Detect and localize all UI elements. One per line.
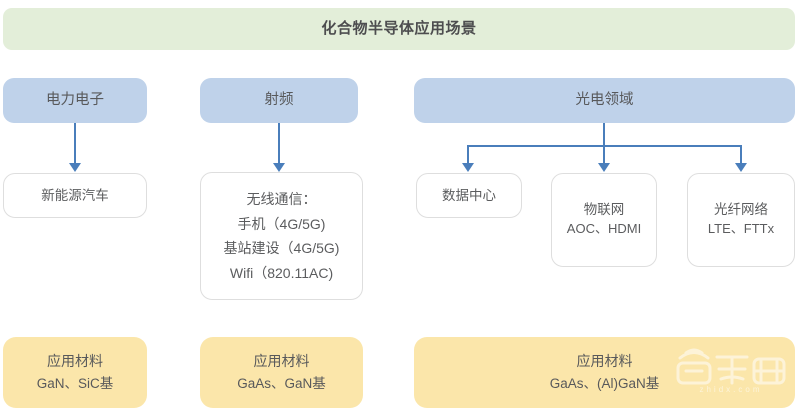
detail-data-center[interactable]: 数据中心	[416, 173, 522, 218]
detail-heading: 光纤网络	[714, 200, 768, 219]
material-heading: 应用材料	[254, 350, 310, 373]
arrow-head-icon	[69, 163, 81, 172]
category-rf[interactable]: 射频	[200, 78, 358, 123]
material-power-electronics[interactable]: 应用材料 GaN、SiC基	[3, 337, 147, 408]
detail-sub: LTE、FTTx	[708, 219, 774, 240]
detail-line: Wifi（820.11AC)	[230, 261, 333, 286]
detail-sub: AOC、HDMI	[567, 219, 641, 240]
detail-line: 无线通信：	[247, 187, 317, 212]
material-heading: 应用材料	[47, 350, 103, 373]
arrow-head-icon	[462, 163, 474, 172]
category-power-electronics[interactable]: 电力电子	[3, 78, 147, 123]
material-heading: 应用材料	[577, 350, 633, 373]
arrow-head-icon	[735, 163, 747, 172]
connector-opto-branch-left	[467, 145, 469, 165]
detail-new-energy-vehicle[interactable]: 新能源汽车	[3, 173, 147, 218]
connector-opto-branch-middle	[603, 145, 605, 165]
detail-line: 新能源汽车	[41, 186, 109, 205]
connector-power-electronics	[74, 123, 76, 165]
category-label: 光电领域	[576, 90, 634, 111]
diagram-title-text: 化合物半导体应用场景	[321, 18, 476, 39]
category-label: 射频	[265, 90, 294, 111]
material-sub: GaAs、GaN基	[237, 373, 326, 395]
category-label: 电力电子	[46, 90, 104, 111]
diagram-canvas: 化合物半导体应用场景 电力电子 新能源汽车 应用材料 GaN、SiC基 射频 无…	[0, 0, 800, 416]
diagram-title: 化合物半导体应用场景	[3, 8, 795, 50]
material-sub: GaN、SiC基	[37, 373, 114, 395]
detail-line: 手机（4G/5G)	[238, 212, 326, 237]
arrow-head-icon	[273, 163, 285, 172]
material-sub: GaAs、(Al)GaN基	[550, 373, 660, 395]
detail-line: 基站建设（4G/5G)	[224, 236, 340, 261]
material-rf[interactable]: 应用材料 GaAs、GaN基	[200, 337, 363, 408]
material-optoelectronics[interactable]: 应用材料 GaAs、(Al)GaN基	[414, 337, 795, 408]
detail-heading: 物联网	[584, 200, 625, 219]
connector-opto-stem	[603, 123, 605, 147]
detail-fiber-network[interactable]: 光纤网络 LTE、FTTx	[687, 173, 795, 267]
detail-iot[interactable]: 物联网 AOC、HDMI	[551, 173, 657, 267]
detail-wireless-communication[interactable]: 无线通信： 手机（4G/5G) 基站建设（4G/5G) Wifi（820.11A…	[200, 172, 363, 300]
detail-heading: 数据中心	[442, 186, 496, 205]
category-optoelectronics[interactable]: 光电领域	[414, 78, 795, 123]
arrow-head-icon	[598, 163, 610, 172]
connector-rf	[278, 123, 280, 165]
connector-opto-branch-right	[740, 145, 742, 165]
